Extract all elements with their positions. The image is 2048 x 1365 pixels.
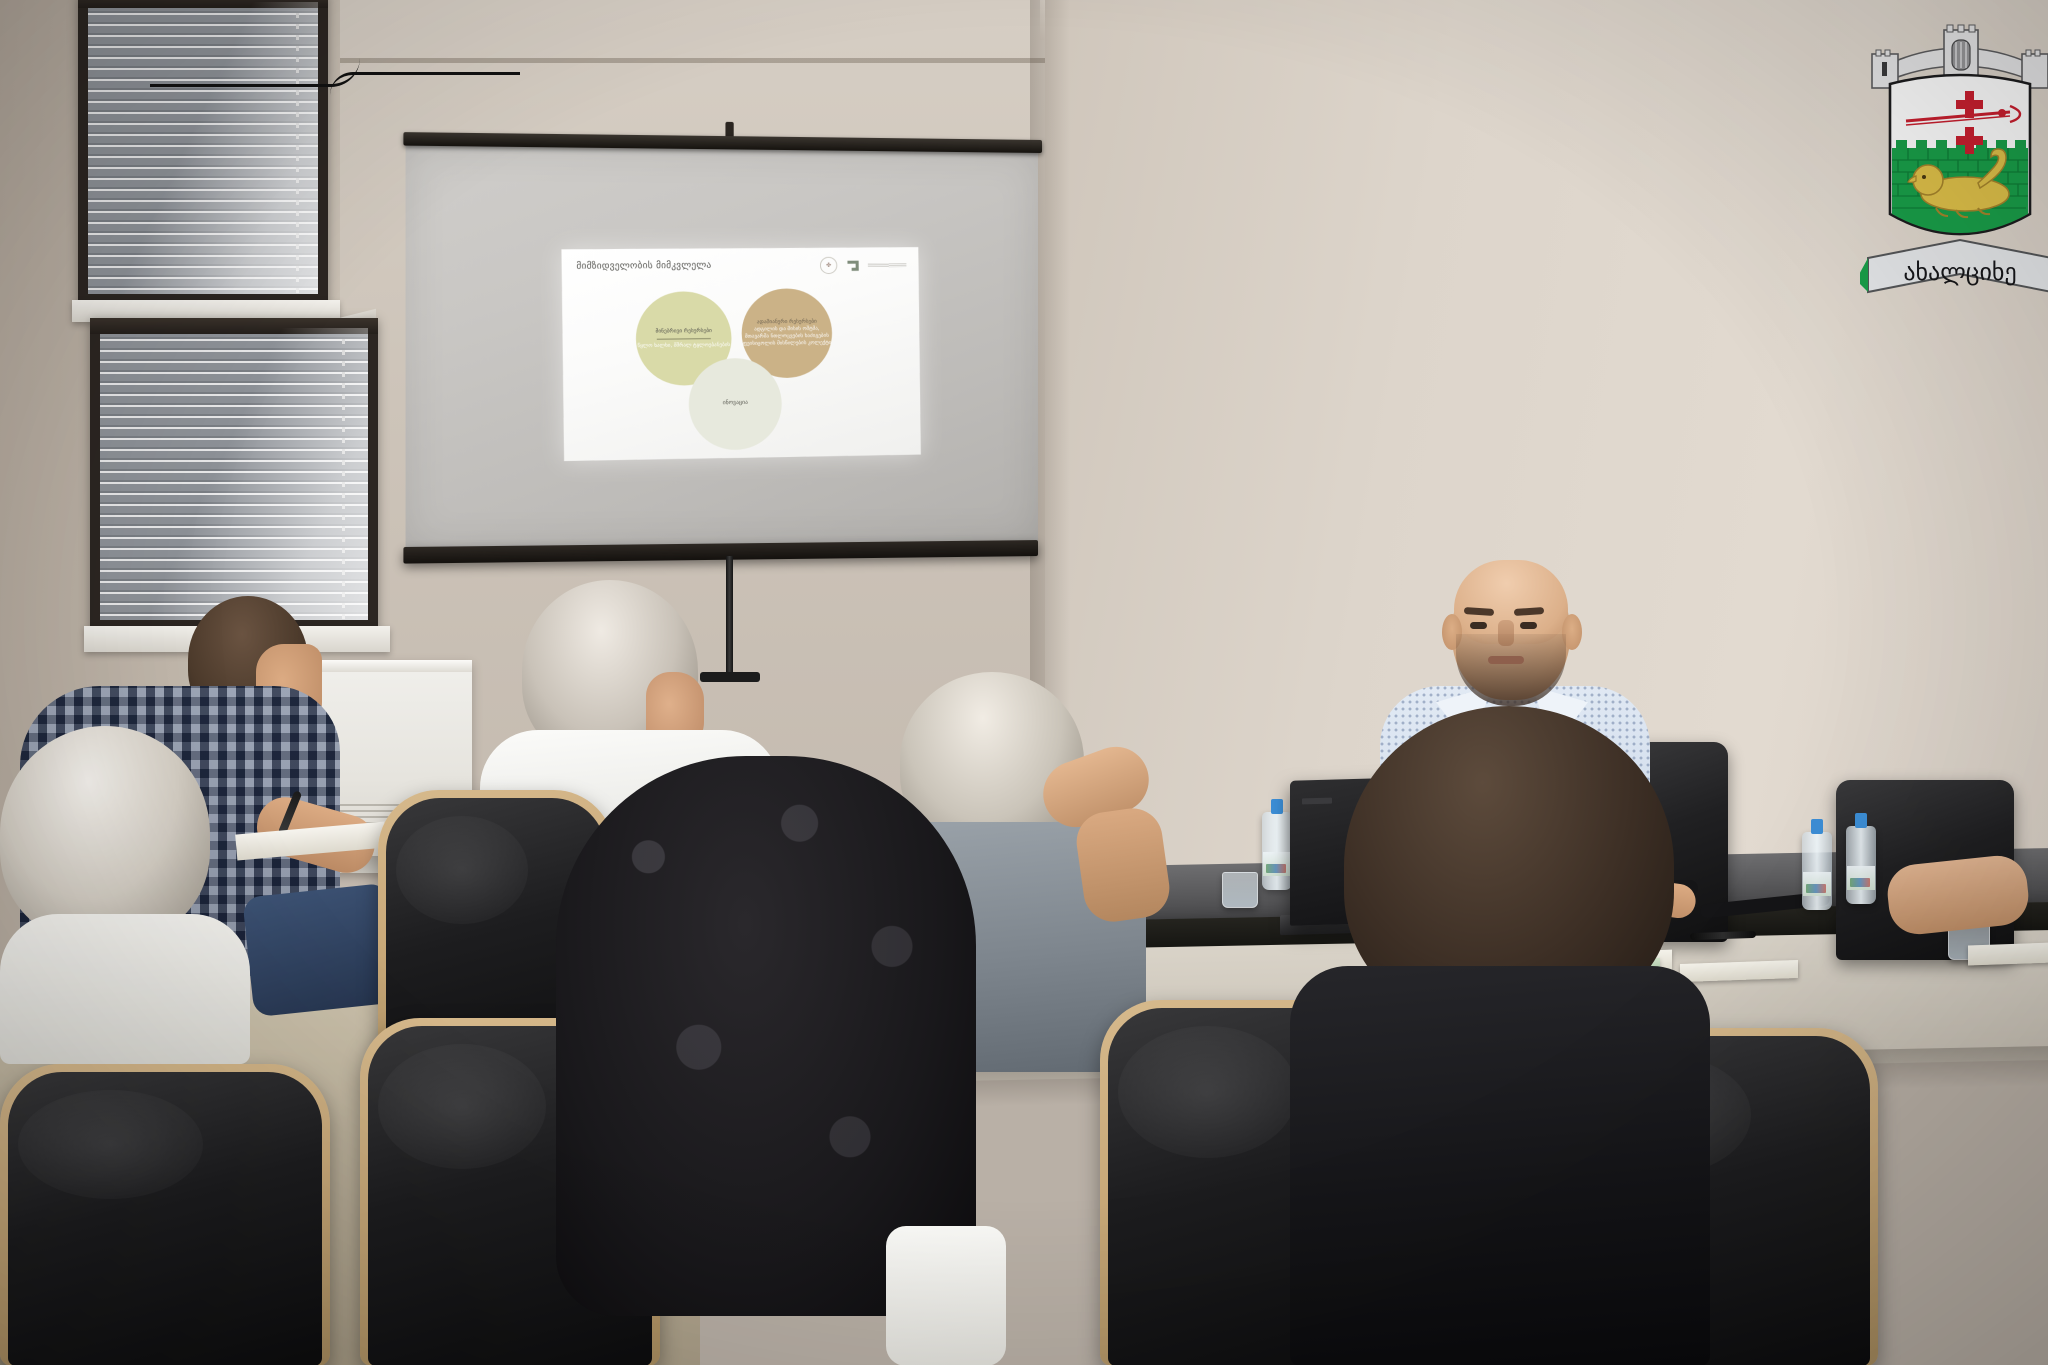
eye-left (1470, 622, 1487, 629)
venn-left-heading: მინებრივი რესურსები (655, 328, 711, 336)
venn-left-body: წყლო ხალხი, მშრალ ტყლოებანების (637, 342, 730, 350)
blind-cord[interactable] (296, 2, 299, 294)
blind-headrail (78, 0, 328, 8)
projected-slide: მიმზიდველობის მიმკვლელა ✤ მინებრივი რესუ… (561, 247, 920, 461)
attendee-white-hair (0, 726, 210, 942)
logo-wordmark (868, 263, 907, 267)
attendee-dark-curly-hair (556, 756, 976, 1365)
water-bottle-1[interactable] (1262, 812, 1292, 890)
attendee-at-table-right (1888, 860, 2048, 1070)
projector-cable (330, 72, 520, 95)
ceiling-edge (330, 58, 1070, 63)
nose (1498, 620, 1514, 646)
venetian-blinds-icon (88, 2, 318, 294)
window-upper-left (78, 0, 328, 304)
chair-highlight (378, 1044, 546, 1169)
water-bottle-4[interactable] (1846, 826, 1876, 904)
attendee-white-top (886, 1226, 1006, 1365)
attendee-white-shirt (0, 914, 250, 1064)
attendee-arm (1885, 853, 2032, 937)
bottle-label (1803, 872, 1831, 896)
venn-bottom-heading: ინოვაცია (723, 400, 748, 408)
bottle-label (1263, 852, 1291, 876)
window-lower-left (90, 318, 378, 630)
chair-highlight (396, 816, 528, 924)
projector-cable (150, 58, 360, 87)
conference-room-photo: მიმზიდველობის მიმკვლელა ✤ მინებრივი რესუ… (0, 0, 2048, 1365)
bottle-label (1847, 866, 1875, 890)
chair-highlight (18, 1090, 203, 1199)
venn-divider (657, 338, 711, 340)
venn-diagram: მინებრივი რესურსები წყლო ხალხი, მშრალ ტყ… (562, 271, 921, 461)
chair-highlight (1118, 1026, 1297, 1158)
akhaltsikhe-coat-of-arms: ახალციხე (1860, 8, 2048, 308)
eye-right (1520, 622, 1537, 629)
blind-cord[interactable] (342, 328, 345, 620)
venn-right-body: ადგილის და მისის ოშტმა, მთავარმა ნთლოცვე… (742, 326, 833, 348)
attendee-white-hair-left (0, 726, 260, 1056)
water-bottle-3[interactable] (1802, 832, 1832, 910)
slide-title: მიმზიდველობის მიმკვლელა (576, 261, 711, 272)
attendee-writing-trousers (242, 883, 400, 1018)
attendee-forearm (1073, 805, 1173, 926)
venn-circle-bottom: ინოვაცია (688, 358, 782, 451)
screen-surface: მიმზიდველობის მიმკვლელა ✤ მინებრივი რესუ… (406, 145, 1038, 549)
attendee-dark-hair-right (1290, 706, 1710, 1365)
coat-of-arms-banner-text: ახალციხე (1903, 258, 2016, 286)
attendee-dark-top (1290, 966, 1710, 1365)
projection-screen: მიმზიდველობის მიმკვლელა ✤ მინებრივი რესუ… (403, 132, 1042, 572)
auditorium-chair-2[interactable] (0, 1064, 330, 1365)
mouth (1488, 656, 1524, 664)
drinking-glass-left[interactable] (1222, 872, 1258, 908)
blind-headrail (90, 318, 378, 334)
venetian-blinds-icon (100, 328, 368, 620)
square-bracket-logo (844, 258, 860, 273)
